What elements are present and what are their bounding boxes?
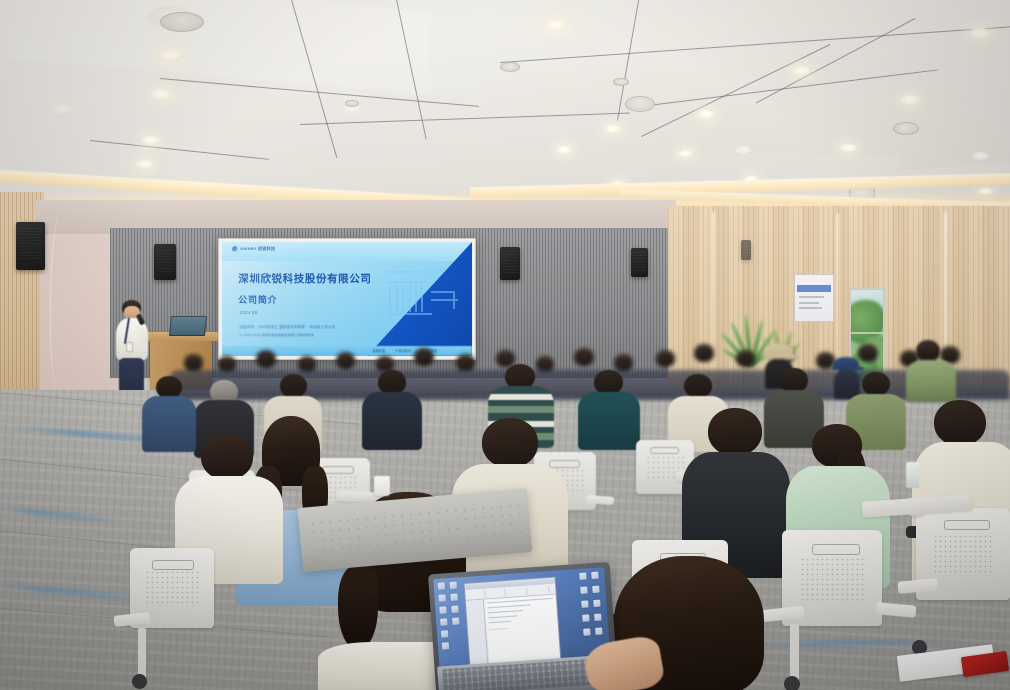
- chair-caster: [784, 676, 800, 690]
- desktop-icon[interactable]: [582, 614, 589, 621]
- paper-cup: [374, 476, 390, 496]
- desktop-icon[interactable]: [440, 618, 447, 625]
- desktop-icon[interactable]: [439, 606, 446, 613]
- chair-handle: [944, 520, 990, 530]
- head: [934, 400, 986, 446]
- desktop-icon[interactable]: [583, 628, 590, 635]
- chair-caster: [132, 674, 147, 689]
- desktop-icon[interactable]: [580, 586, 587, 593]
- desktop-icon[interactable]: [438, 594, 445, 601]
- desktop-icon[interactable]: [450, 582, 457, 589]
- desktop-icon[interactable]: [442, 642, 449, 649]
- head: [482, 418, 538, 468]
- spreadsheet-window[interactable]: [464, 577, 562, 667]
- desktop-icon[interactable]: [452, 617, 459, 624]
- desktop-icon[interactable]: [441, 630, 448, 637]
- head: [201, 434, 253, 480]
- desktop-icon[interactable]: [451, 605, 458, 612]
- chair-handle: [650, 447, 679, 454]
- conference-room-photo: SHINRY 欣锐科技 深圳欣锐科技股份有限公司 公司简介 2024.08: [0, 0, 1010, 690]
- desktop-icon[interactable]: [592, 586, 599, 593]
- chair-handle: [812, 544, 860, 555]
- desktop-icon[interactable]: [581, 600, 588, 607]
- water-bottle: [906, 462, 919, 488]
- desktop-icon[interactable]: [450, 593, 457, 600]
- hair-strand: [338, 566, 378, 650]
- desktop-icon[interactable]: [593, 600, 600, 607]
- window-content-grid[interactable]: [485, 595, 560, 665]
- desktop-icon[interactable]: [591, 572, 598, 579]
- desktop-icon[interactable]: [579, 572, 586, 579]
- desktop-icon[interactable]: [594, 614, 601, 621]
- head: [708, 408, 762, 456]
- desktop-icon[interactable]: [595, 627, 602, 634]
- chair-handle: [152, 560, 194, 570]
- desktop-icon[interactable]: [438, 582, 445, 589]
